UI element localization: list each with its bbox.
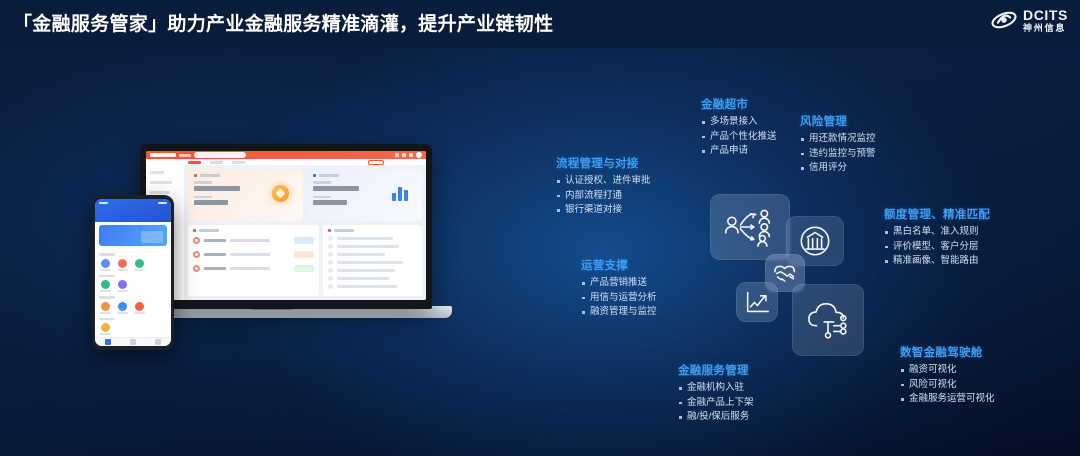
block-title: 风险管理: [800, 113, 876, 129]
list-item: [328, 260, 417, 265]
growth-chart-icon: [736, 282, 778, 322]
people-network-icon: [710, 194, 790, 260]
help-icon: [409, 153, 413, 157]
block-operation-support: 运营支撑 产品营销推送 用信与运营分析 融资管理与监控: [581, 257, 657, 320]
card-title: [313, 174, 416, 177]
grid-item[interactable]: [116, 280, 128, 292]
block-items: 黑白名单、准入规则 评价模型、客户分层 精准画像、智能路由: [884, 225, 990, 269]
laptop-screen: [146, 151, 426, 300]
slide-header: 「金融服务管家」助力产业金融服务精准滴灌，提升产业链韧性 DCITS 神州信息: [0, 0, 1080, 48]
brand-logo: DCITS 神州信息: [990, 7, 1068, 33]
list-item: 金融机构入驻: [678, 381, 754, 396]
block-items: 融资可视化 风险可视化 金融服务运营可视化: [900, 363, 995, 407]
grid-row: [99, 259, 167, 271]
list-item: [328, 244, 417, 249]
bar-chart-icon: [392, 181, 414, 201]
list-item: 精准画像、智能路由: [884, 254, 990, 269]
primary-action-button[interactable]: [368, 160, 384, 165]
process-step: [193, 251, 314, 258]
phone-screen: [95, 199, 171, 346]
block-items: 用还款情况监控 违约监控与预警 信用评分: [800, 132, 876, 176]
brand-name-cn: 神州信息: [1023, 24, 1068, 33]
list-item: 评价模型、客户分层: [884, 240, 990, 255]
block-items: 产品营销推送 用信与运营分析 融资管理与监控: [581, 276, 657, 320]
app-menu-item: [179, 154, 191, 157]
grid-item[interactable]: [99, 302, 111, 314]
block-quota-matching: 额度管理、精准匹配 黑白名单、准入规则 评价模型、客户分层 精准画像、智能路由: [884, 206, 990, 269]
app-content: [184, 165, 426, 300]
phone-tab-bar: [95, 337, 171, 346]
group-heading: [99, 253, 115, 256]
content-panels: [188, 225, 422, 296]
list-item: 违约监控与预警: [800, 147, 876, 162]
block-items: 认证授权、进件审批 内部流程打通 银行渠道对接: [556, 174, 651, 218]
process-panel: [188, 225, 319, 296]
grid-item[interactable]: [133, 302, 145, 314]
service-grid: [95, 249, 171, 337]
gear-icon: [402, 153, 406, 157]
tab-third[interactable]: [232, 161, 245, 164]
list-item: [328, 252, 417, 257]
list-item: 产品申请: [701, 144, 777, 159]
list-item: 融/投/保后服务: [678, 410, 754, 425]
process-step: [193, 265, 314, 272]
grid-item[interactable]: [116, 302, 128, 314]
tab-service-icon[interactable]: [130, 339, 136, 345]
app-toolbar-icons: [395, 152, 422, 158]
card-label-1: [313, 181, 331, 184]
device-mockups: [92, 140, 452, 350]
block-risk-management: 风险管理 用还款情况监控 违约监控与预警 信用评分: [800, 113, 876, 176]
block-items: 多场景接入 产品个性化推送 产品申请: [701, 115, 777, 159]
block-process-management: 流程管理与对接 认证授权、进件审批 内部流程打通 银行渠道对接: [556, 155, 651, 218]
app-logo: [150, 153, 176, 157]
phone-mockup: [92, 195, 174, 350]
list-item: [328, 236, 417, 241]
icon-cluster: [700, 192, 870, 362]
card-amount-1: [194, 186, 240, 191]
promo-banner: [99, 225, 167, 246]
panel-title: [193, 229, 314, 232]
list-item: 产品个性化推送: [701, 130, 777, 145]
summary-card-loan: [307, 169, 422, 221]
card-amount-2: [313, 200, 347, 205]
app-top-bar: [146, 151, 426, 159]
list-item: [328, 276, 417, 281]
avatar: [416, 152, 422, 158]
list-item: 银行渠道对接: [556, 203, 651, 218]
list-item: 用还款情况监控: [800, 132, 876, 147]
grid-item[interactable]: [99, 323, 111, 335]
block-title: 流程管理与对接: [556, 155, 651, 171]
orbit-swoosh-icon: [990, 7, 1018, 33]
list-item: 用信与运营分析: [581, 291, 657, 306]
group-heading: [99, 296, 115, 299]
tab-active[interactable]: [188, 161, 201, 164]
block-title: 金融超市: [701, 96, 777, 112]
search-input[interactable]: [194, 152, 246, 158]
block-title: 运营支撑: [581, 257, 657, 273]
list-item: [328, 284, 417, 289]
list-item: 融资管理与监控: [581, 305, 657, 320]
card-amount-1: [313, 186, 359, 191]
block-title: 额度管理、精准匹配: [884, 206, 990, 222]
block-digital-cockpit: 数智金融驾驶舱 融资可视化 风险可视化 金融服务运营可视化: [900, 344, 995, 407]
list-item: 认证授权、进件审批: [556, 174, 651, 189]
summary-card-credit: [188, 169, 303, 221]
card-amount-2: [194, 200, 228, 205]
tab-profile-icon[interactable]: [155, 339, 161, 345]
list-item: 信用评分: [800, 161, 876, 176]
summary-card-row: [188, 169, 422, 221]
tab-second[interactable]: [210, 161, 223, 164]
page-title: 「金融服务管家」助力产业金融服务精准滴灌，提升产业链韧性: [13, 9, 553, 36]
notice-panel: [323, 225, 422, 296]
group-heading: [99, 275, 115, 278]
list-item: 融资可视化: [900, 363, 995, 378]
card-title: [194, 174, 297, 177]
sidebar-item-1[interactable]: [150, 171, 164, 174]
block-title: 金融服务管理: [678, 362, 754, 378]
block-items: 金融机构入驻 金融产品上下架 融/投/保后服务: [678, 381, 754, 425]
slide-canvas: 「金融服务管家」助力产业金融服务精准滴灌，提升产业链韧性 DCITS 神州信息: [0, 0, 1080, 456]
process-step: [193, 237, 314, 244]
block-title: 数智金融驾驶舱: [900, 344, 995, 360]
sidebar-item-3[interactable]: [150, 191, 170, 194]
block-financial-supermarket: 金融超市 多场景接入 产品个性化推送 产品申请: [701, 96, 777, 159]
phone-app-header: [95, 199, 171, 222]
laptop-mockup: [140, 144, 432, 309]
card-label-2: [313, 196, 331, 199]
list-item: 内部流程打通: [556, 189, 651, 204]
list-item: 产品营销推送: [581, 276, 657, 291]
grid-row: [99, 302, 167, 314]
grid-item[interactable]: [133, 259, 145, 271]
status-bar: [99, 202, 167, 204]
grid-item[interactable]: [116, 259, 128, 271]
brand-wordmark: DCITS 神州信息: [1023, 8, 1068, 33]
list-item: 金融服务运营可视化: [900, 392, 995, 407]
card-label-2: [194, 196, 212, 199]
grid-item[interactable]: [99, 280, 111, 292]
list-item: [328, 268, 417, 273]
list-item: 黑白名单、准入规则: [884, 225, 990, 240]
grid-row: [99, 323, 167, 335]
tab-home-icon[interactable]: [105, 339, 111, 345]
group-heading: [99, 318, 115, 321]
cloud-network-icon: [792, 284, 864, 356]
grid-row: [99, 280, 167, 292]
sidebar-item-2[interactable]: [150, 181, 172, 184]
coin-icon: [272, 185, 289, 202]
brand-name-en: DCITS: [1023, 8, 1068, 22]
grid-item[interactable]: [99, 259, 111, 271]
panel-title: [328, 229, 417, 232]
card-label-1: [194, 181, 212, 184]
block-service-management: 金融服务管理 金融机构入驻 金融产品上下架 融/投/保后服务: [678, 362, 754, 425]
list-item: 多场景接入: [701, 115, 777, 130]
bell-icon: [395, 153, 399, 157]
app-main: [146, 165, 426, 300]
list-item: 风险可视化: [900, 378, 995, 393]
list-item: 金融产品上下架: [678, 396, 754, 411]
